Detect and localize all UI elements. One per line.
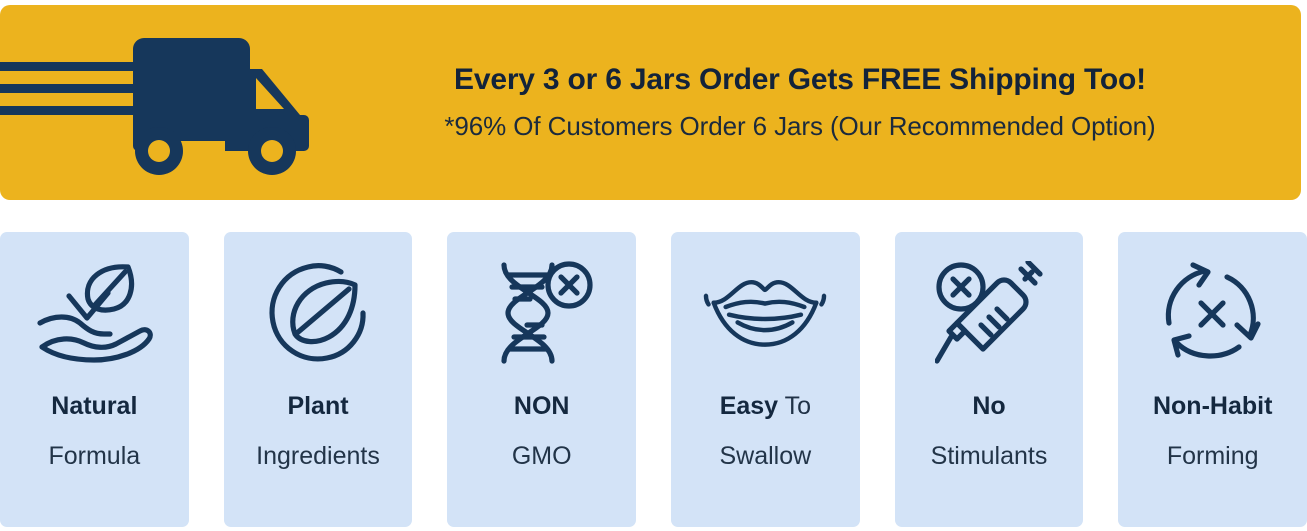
banner-subline: *96% Of Customers Order 6 Jars (Our Reco… [444, 111, 1155, 142]
card-label-secondary: Swallow [720, 444, 812, 469]
card-label-secondary: Ingredients [256, 444, 380, 469]
hand-holding-leaf-check-icon [29, 254, 159, 372]
benefit-card-easy-to-swallow: Easy To Swallow [671, 232, 860, 527]
banner-text-block: Every 3 or 6 Jars Order Gets FREE Shippi… [320, 5, 1280, 200]
cycle-arrows-no-habit-icon [1148, 254, 1278, 372]
card-label-bold: Non-Habit [1153, 392, 1272, 420]
benefit-card-no-stimulants: No Stimulants [895, 232, 1084, 527]
card-label-primary: Natural [51, 394, 137, 419]
card-label-bold: NON [514, 392, 570, 420]
benefit-card-plant-ingredients: Plant Ingredients [224, 232, 413, 527]
leaf-in-circle-icon [253, 254, 383, 372]
card-label-bold: No [972, 392, 1005, 420]
card-label-primary: Non-Habit [1153, 394, 1272, 419]
free-shipping-banner: Every 3 or 6 Jars Order Gets FREE Shippi… [0, 5, 1301, 200]
syringe-no-stimulants-icon [924, 254, 1054, 372]
card-label-bold: Easy [720, 392, 778, 420]
card-label-bold: Plant [287, 392, 348, 420]
benefit-card-non-gmo: NON GMO [447, 232, 636, 527]
benefit-card-non-habit-forming: Non-Habit Forming [1118, 232, 1307, 527]
banner-headline: Every 3 or 6 Jars Order Gets FREE Shippi… [454, 63, 1146, 97]
delivery-truck-icon [0, 29, 320, 179]
mouth-lips-icon [700, 254, 830, 372]
card-label-secondary: Forming [1167, 444, 1259, 469]
card-label-secondary: Stimulants [931, 444, 1048, 469]
card-label-secondary: GMO [512, 444, 572, 469]
card-label-primary: No [972, 394, 1005, 419]
card-label-primary: Plant [287, 394, 348, 419]
card-label-secondary: Formula [48, 444, 140, 469]
card-label-primary: NON [514, 394, 570, 419]
benefit-card-natural-formula: Natural Formula [0, 232, 189, 527]
dna-no-gmo-icon [477, 254, 607, 372]
card-label-bold: Natural [51, 392, 137, 420]
card-label-soft: To [778, 392, 811, 420]
card-label-primary: Easy To [720, 394, 811, 419]
benefit-cards-row: Natural Formula Plant Ingredients [0, 232, 1307, 527]
